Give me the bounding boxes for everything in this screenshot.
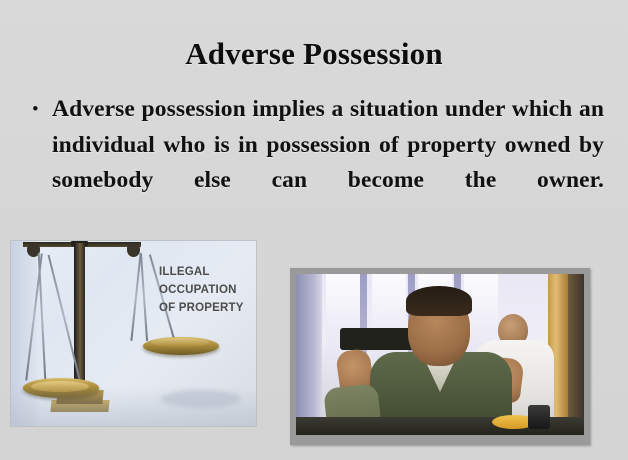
movie-still-frame <box>296 274 584 435</box>
scale-chain-right-b <box>140 253 148 341</box>
scale-hook-right <box>127 243 140 257</box>
list-item: • Adverse possession implies a situation… <box>28 92 604 234</box>
scales-caption-line-2: OCCUPATION <box>159 281 255 299</box>
page-title: Adverse Possession <box>0 36 628 72</box>
movie-right-edge <box>568 274 584 435</box>
bullet-text: Adverse possession implies a situation u… <box>52 92 604 234</box>
movie-still-image <box>290 268 590 445</box>
slide-body: • Adverse possession implies a situation… <box>28 92 604 234</box>
scale-pan-right-surface <box>151 338 209 347</box>
scales-of-justice-image: ILLEGAL OCCUPATION OF PROPERTY <box>11 241 256 426</box>
bullet-icon: • <box>28 92 52 128</box>
scales-caption-line-3: OF PROPERTY <box>159 299 255 317</box>
movie-person-hair <box>406 286 472 316</box>
movie-left-panel <box>296 274 322 422</box>
scales-caption: ILLEGAL OCCUPATION OF PROPERTY <box>159 263 255 317</box>
scale-chain-left-b <box>38 253 47 381</box>
presentation-slide: Adverse Possession • Adverse possession … <box>0 0 628 460</box>
scales-caption-line-1: ILLEGAL <box>159 263 255 281</box>
scales-vignette <box>11 386 256 426</box>
movie-pot <box>528 405 550 429</box>
